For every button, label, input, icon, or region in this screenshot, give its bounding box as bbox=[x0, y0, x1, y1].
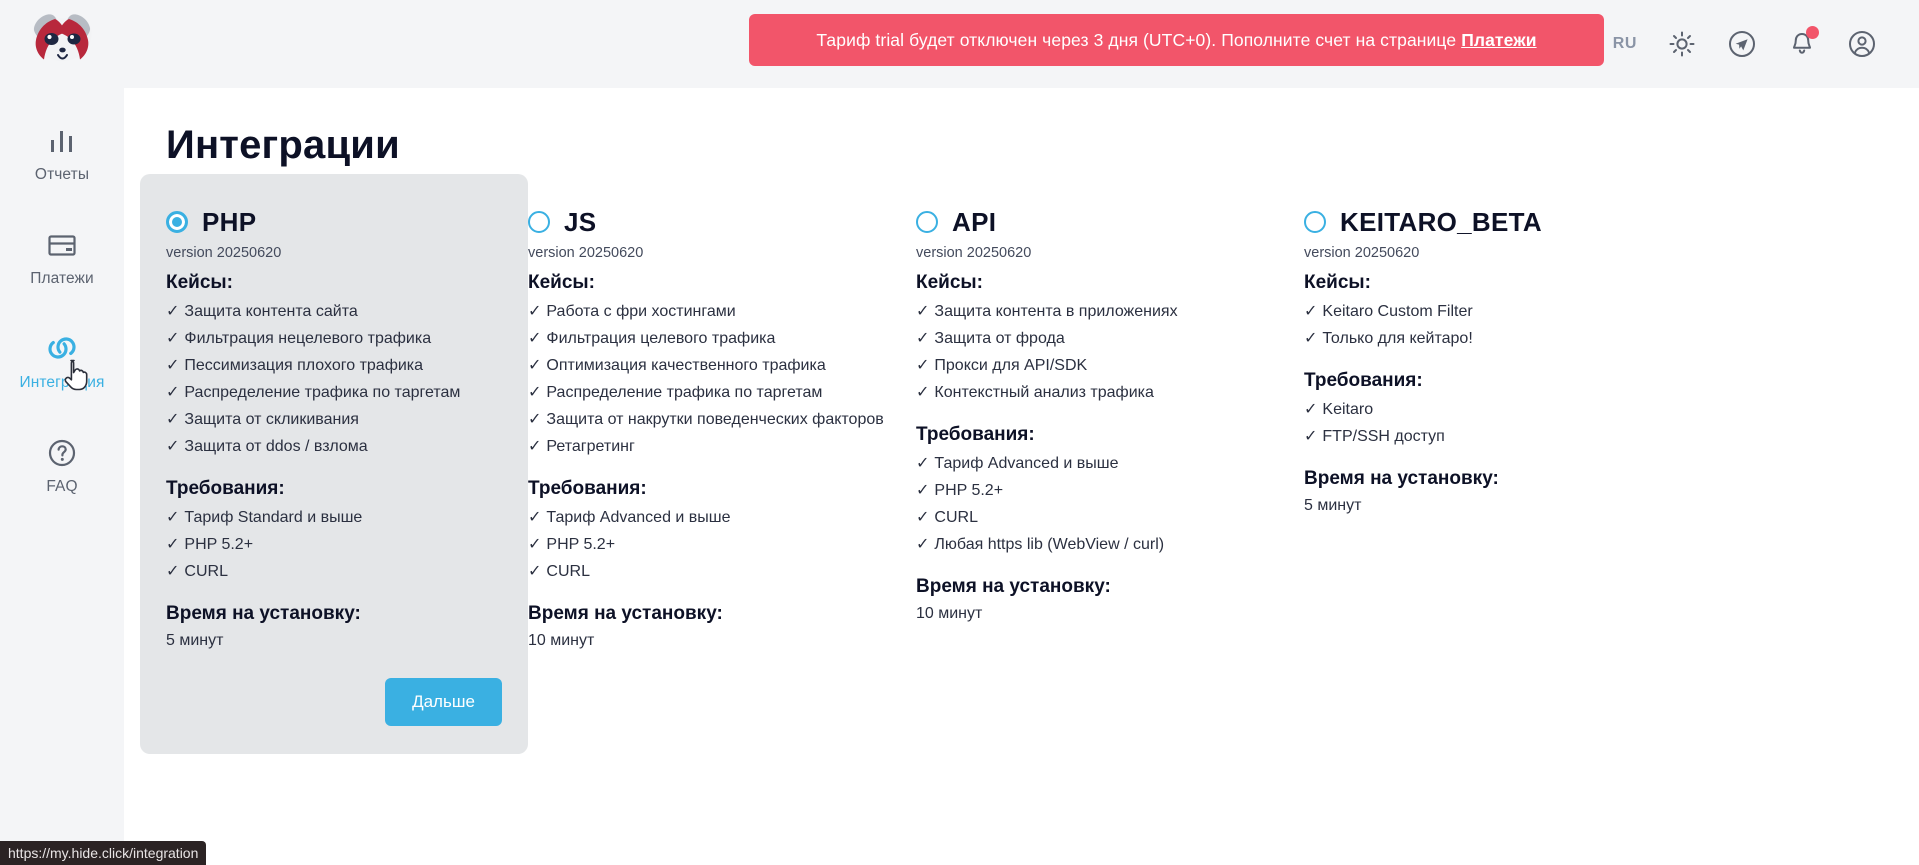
integration-card-keitaro-beta[interactable]: KEITARO_BETA version 20250620 Кейсы: ✓Ke… bbox=[1304, 206, 1692, 515]
case-label: Пессимизация плохого трафика bbox=[184, 357, 423, 374]
install-time-value: 10 минут bbox=[528, 632, 886, 650]
sidebar-item-label: FAQ bbox=[46, 478, 77, 496]
requirement-label: CURL bbox=[546, 563, 590, 580]
card-title: KEITARO_BETA bbox=[1340, 207, 1542, 238]
case-item: ✓Прокси для API/SDK bbox=[916, 355, 1274, 375]
card-title: PHP bbox=[202, 207, 256, 238]
case-item: ✓Контекстный анализ трафика bbox=[916, 382, 1274, 402]
sidebar: Отчеты Платежи bbox=[0, 0, 124, 865]
requirement-label: CURL bbox=[934, 509, 978, 526]
requirement-label: CURL bbox=[184, 563, 228, 580]
requirement-label: Тариф Standard и выше bbox=[184, 509, 362, 526]
case-label: Ретагретинг bbox=[546, 438, 634, 455]
check-icon: ✓ bbox=[916, 357, 929, 374]
case-item: ✓Защита контента сайта bbox=[166, 301, 502, 321]
card-version: version 20250620 bbox=[528, 245, 886, 261]
check-icon: ✓ bbox=[166, 411, 179, 428]
notification-badge bbox=[1806, 26, 1819, 39]
credit-card-icon bbox=[46, 228, 78, 262]
sidebar-item-label: Платежи bbox=[30, 270, 94, 288]
requirement-label: Тариф Advanced и выше bbox=[546, 509, 730, 526]
integration-card-js[interactable]: JS version 20250620 Кейсы: ✓Работа с фри… bbox=[528, 206, 916, 650]
sidebar-item-integraciya[interactable]: Интеграция bbox=[0, 322, 124, 400]
case-label: Фильтрация нецелевого трафика bbox=[184, 330, 431, 347]
install-time-heading: Время на установку: bbox=[528, 603, 886, 625]
check-icon: ✓ bbox=[166, 384, 179, 401]
card-version: version 20250620 bbox=[166, 245, 502, 261]
sidebar-item-platezhi[interactable]: Платежи bbox=[0, 218, 124, 296]
sun-icon[interactable] bbox=[1667, 29, 1697, 59]
check-icon: ✓ bbox=[528, 509, 541, 526]
requirement-label: PHP 5.2+ bbox=[184, 536, 253, 553]
requirement-item: ✓Тариф Standard и выше bbox=[166, 507, 502, 527]
requirement-item: ✓CURL bbox=[166, 561, 502, 581]
check-icon: ✓ bbox=[528, 357, 541, 374]
case-item: ✓Работа с фри хостингами bbox=[528, 301, 886, 321]
install-time-value: 5 минут bbox=[1304, 497, 1662, 515]
card-title: JS bbox=[564, 207, 596, 238]
requirement-item: ✓PHP 5.2+ bbox=[916, 480, 1274, 500]
case-item: ✓Оптимизация качественного трафика bbox=[528, 355, 886, 375]
radio-button-api[interactable] bbox=[916, 211, 938, 233]
check-icon: ✓ bbox=[916, 536, 929, 553]
install-time-heading: Время на установку: bbox=[916, 576, 1274, 598]
integration-card-api[interactable]: API version 20250620 Кейсы: ✓Защита конт… bbox=[916, 206, 1304, 623]
install-time-heading: Время на установку: bbox=[1304, 468, 1662, 490]
case-label: Только для кейтаро! bbox=[1322, 330, 1472, 347]
check-icon: ✓ bbox=[916, 455, 929, 472]
card-title: API bbox=[952, 207, 996, 238]
requirement-label: Любая https lib (WebView / curl) bbox=[934, 536, 1164, 553]
case-item: ✓Пессимизация плохого трафика bbox=[166, 355, 502, 375]
sidebar-nav: Отчеты Платежи bbox=[0, 114, 124, 530]
check-icon: ✓ bbox=[1304, 428, 1317, 445]
case-item: ✓Защита от ddos / взлома bbox=[166, 436, 502, 456]
case-label: Защита контента сайта bbox=[184, 303, 357, 320]
check-icon: ✓ bbox=[916, 303, 929, 320]
case-item: ✓Распределение трафика по таргетам bbox=[166, 382, 502, 402]
requirement-item: ✓FTP/SSH доступ bbox=[1304, 426, 1662, 446]
link-icon bbox=[45, 332, 79, 366]
check-icon: ✓ bbox=[166, 536, 179, 553]
check-icon: ✓ bbox=[916, 509, 929, 526]
next-button[interactable]: Дальше bbox=[385, 678, 502, 726]
trial-warning-banner: Тариф trial будет отключен через 3 дня (… bbox=[749, 14, 1604, 66]
banner-payments-link[interactable]: Платежи bbox=[1461, 30, 1536, 51]
case-label: Keitaro Custom Filter bbox=[1322, 303, 1472, 320]
case-label: Фильтрация целевого трафика bbox=[546, 330, 775, 347]
requirement-item: ✓Тариф Advanced и выше bbox=[528, 507, 886, 527]
language-switcher[interactable]: RU bbox=[1613, 35, 1637, 53]
check-icon: ✓ bbox=[916, 330, 929, 347]
telegram-icon[interactable] bbox=[1727, 29, 1757, 59]
install-time-value: 10 минут bbox=[916, 605, 1274, 623]
radio-button-keitaro-beta[interactable] bbox=[1304, 211, 1326, 233]
requirements-heading: Требования: bbox=[166, 478, 502, 500]
check-icon: ✓ bbox=[1304, 330, 1317, 347]
check-icon: ✓ bbox=[1304, 303, 1317, 320]
account-circle-icon[interactable] bbox=[1847, 29, 1877, 59]
case-label: Защита от ddos / взлома bbox=[184, 438, 367, 455]
header-tools: RU bbox=[1613, 29, 1877, 59]
card-header: KEITARO_BETA bbox=[1304, 206, 1662, 238]
install-time-value: 5 минут bbox=[166, 632, 502, 650]
card-header: PHP bbox=[166, 206, 502, 238]
requirement-item: ✓Keitaro bbox=[1304, 399, 1662, 419]
check-icon: ✓ bbox=[166, 438, 179, 455]
check-icon: ✓ bbox=[166, 330, 179, 347]
check-icon: ✓ bbox=[166, 509, 179, 526]
case-label: Распределение трафика по таргетам bbox=[546, 384, 822, 401]
case-item: ✓Защита от фрода bbox=[916, 328, 1274, 348]
case-label: Защита от накрутки поведенческих факторо… bbox=[546, 411, 883, 428]
cases-heading: Кейсы: bbox=[528, 272, 886, 294]
raccoon-logo[interactable] bbox=[17, 6, 107, 68]
requirement-item: ✓PHP 5.2+ bbox=[166, 534, 502, 554]
requirements-heading: Требования: bbox=[916, 424, 1274, 446]
requirement-label: Тариф Advanced и выше bbox=[934, 455, 1118, 472]
card-version: version 20250620 bbox=[916, 245, 1274, 261]
case-item: ✓Ретагретинг bbox=[528, 436, 886, 456]
bell-icon[interactable] bbox=[1787, 29, 1817, 59]
question-circle-icon bbox=[46, 436, 78, 470]
sidebar-item-otchety[interactable]: Отчеты bbox=[0, 114, 124, 192]
requirements-heading: Требования: bbox=[1304, 370, 1662, 392]
app-root: Отчеты Платежи bbox=[0, 0, 1919, 865]
requirement-item: ✓CURL bbox=[916, 507, 1274, 527]
bar-chart-icon bbox=[47, 124, 77, 158]
requirement-label: FTP/SSH доступ bbox=[1322, 428, 1444, 445]
requirement-label: Keitaro bbox=[1322, 401, 1373, 418]
case-item: ✓Фильтрация целевого трафика bbox=[528, 328, 886, 348]
requirements-heading: Требования: bbox=[528, 478, 886, 500]
case-label: Распределение трафика по таргетам bbox=[184, 384, 460, 401]
requirement-label: PHP 5.2+ bbox=[546, 536, 615, 553]
header: Тариф trial будет отключен через 3 дня (… bbox=[124, 0, 1919, 88]
check-icon: ✓ bbox=[528, 303, 541, 320]
check-icon: ✓ bbox=[1304, 401, 1317, 418]
case-label: Защита контента в приложениях bbox=[934, 303, 1177, 320]
card-header: JS bbox=[528, 206, 886, 238]
check-icon: ✓ bbox=[166, 357, 179, 374]
requirement-item: ✓CURL bbox=[528, 561, 886, 581]
requirement-item: ✓Тариф Advanced и выше bbox=[916, 453, 1274, 473]
cases-heading: Кейсы: bbox=[166, 272, 502, 294]
banner-text: Тариф trial будет отключен через 3 дня (… bbox=[816, 30, 1456, 51]
main-content: Интеграции PHP version 20250620 Кейсы: ✓… bbox=[124, 88, 1919, 865]
case-item: ✓Защита контента в приложениях bbox=[916, 301, 1274, 321]
requirement-label: PHP 5.2+ bbox=[934, 482, 1003, 499]
case-label: Работа с фри хостингами bbox=[546, 303, 735, 320]
cases-heading: Кейсы: bbox=[916, 272, 1274, 294]
check-icon: ✓ bbox=[528, 438, 541, 455]
requirement-item: ✓PHP 5.2+ bbox=[528, 534, 886, 554]
check-icon: ✓ bbox=[528, 536, 541, 553]
case-label: Оптимизация качественного трафика bbox=[546, 357, 825, 374]
case-item: ✓Распределение трафика по таргетам bbox=[528, 382, 886, 402]
case-item: ✓Защита от накрутки поведенческих фактор… bbox=[528, 409, 886, 429]
page-title: Интеграции bbox=[166, 123, 1919, 168]
check-icon: ✓ bbox=[528, 330, 541, 347]
case-item: ✓Защита от скликивания bbox=[166, 409, 502, 429]
check-icon: ✓ bbox=[166, 563, 179, 580]
integration-card-php[interactable]: PHP version 20250620 Кейсы: ✓Защита конт… bbox=[140, 174, 528, 754]
integration-cards: PHP version 20250620 Кейсы: ✓Защита конт… bbox=[124, 206, 1919, 754]
check-icon: ✓ bbox=[528, 563, 541, 580]
check-icon: ✓ bbox=[916, 482, 929, 499]
case-item: ✓Keitaro Custom Filter bbox=[1304, 301, 1662, 321]
check-icon: ✓ bbox=[166, 303, 179, 320]
card-header: API bbox=[916, 206, 1274, 238]
sidebar-item-label: Отчеты bbox=[35, 166, 89, 184]
case-item: ✓Только для кейтаро! bbox=[1304, 328, 1662, 348]
requirement-item: ✓Любая https lib (WebView / curl) bbox=[916, 534, 1274, 554]
card-version: version 20250620 bbox=[1304, 245, 1662, 261]
case-label: Прокси для API/SDK bbox=[934, 357, 1087, 374]
check-icon: ✓ bbox=[528, 384, 541, 401]
case-item: ✓Фильтрация нецелевого трафика bbox=[166, 328, 502, 348]
sidebar-item-faq[interactable]: FAQ bbox=[0, 426, 124, 504]
cases-heading: Кейсы: bbox=[1304, 272, 1662, 294]
sidebar-item-label: Интеграция bbox=[19, 374, 104, 392]
case-label: Защита от фрода bbox=[934, 330, 1064, 347]
status-bar-url: https://my.hide.click/integration bbox=[0, 841, 206, 865]
case-label: Контекстный анализ трафика bbox=[934, 384, 1154, 401]
check-icon: ✓ bbox=[528, 411, 541, 428]
install-time-heading: Время на установку: bbox=[166, 603, 502, 625]
case-label: Защита от скликивания bbox=[184, 411, 359, 428]
radio-button-php[interactable] bbox=[166, 211, 188, 233]
check-icon: ✓ bbox=[916, 384, 929, 401]
radio-button-js[interactable] bbox=[528, 211, 550, 233]
